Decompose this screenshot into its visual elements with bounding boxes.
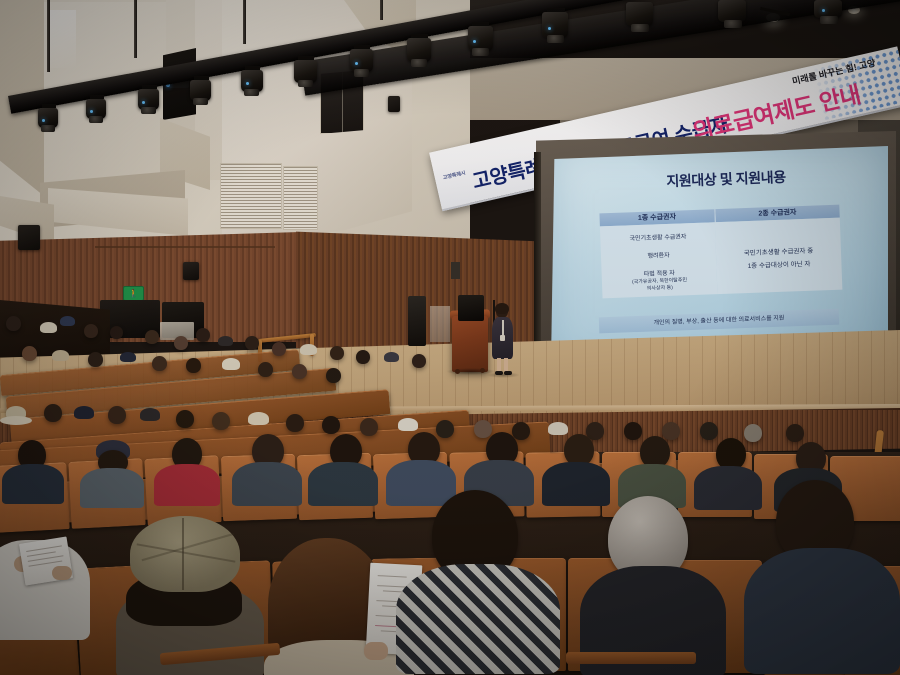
- audience-head: [212, 412, 230, 430]
- spotlight-led-icon: [42, 119, 45, 122]
- audience-head: [44, 404, 62, 422]
- audience-head: [360, 418, 378, 436]
- audience-hat: [222, 358, 240, 370]
- audience-head: [110, 326, 123, 339]
- audience-head: [84, 324, 98, 338]
- audience-head: [245, 336, 259, 350]
- audience-head: [174, 336, 188, 350]
- audience-head: [22, 346, 37, 361]
- audience-head: [152, 356, 167, 371]
- slide-cell-line: 1종 수급대상이 아닌 자: [716, 257, 841, 272]
- spotlight-led-icon: [246, 82, 249, 85]
- slide-table-body-row: 국민기초생활 수급권자 행려환자 타법 적용 자 (국가유공자, 북한이탈주민 …: [600, 218, 842, 299]
- seat-armrest: [566, 652, 696, 664]
- audience-cap: [74, 406, 94, 419]
- slide-table: 1종 수급권자 2종 수급권자 국민기초생활 수급권자 행려환자 타법 적용 자…: [599, 205, 842, 304]
- slide-title: 지원대상 및 지원내용: [611, 165, 842, 193]
- audience-cap: [398, 418, 418, 431]
- hat-seam: [182, 518, 184, 590]
- audience-head: [176, 410, 194, 428]
- truss-drop-rod: [380, 0, 383, 20]
- audience-shoulders: [2, 464, 64, 504]
- audience-member-checkered: [396, 490, 566, 675]
- audience-hat: [248, 412, 269, 425]
- audience-hat: [300, 344, 317, 355]
- spotlight-led-icon: [822, 9, 825, 12]
- audience-hat: [52, 350, 69, 361]
- wall-panel-small: [451, 262, 460, 279]
- audience-cap: [120, 352, 136, 362]
- audience-cap: [548, 422, 568, 435]
- slide-table-cell-col1: 국민기초생활 수급권자 행려환자 타법 적용 자 (국가유공자, 북한이탈주민 …: [600, 222, 718, 298]
- exit-running-man-icon: 🚶: [129, 290, 139, 298]
- audience-hat: [40, 322, 57, 333]
- audience-head: [108, 406, 126, 424]
- spotlight-led-icon: [142, 101, 145, 104]
- wall-speaker: [18, 225, 40, 250]
- spotlight-led-icon: [355, 62, 358, 65]
- spotlight-led-icon: [90, 110, 93, 113]
- spotlight-led-icon: [473, 40, 476, 43]
- audience-head: [356, 350, 370, 364]
- audience-cap: [140, 408, 160, 421]
- audience-hand: [52, 566, 72, 580]
- audience-head: [512, 422, 530, 440]
- audience-head: [624, 422, 642, 440]
- audience-cap: [218, 336, 233, 346]
- slide-cell-line: 행려환자: [601, 248, 716, 261]
- audience-head: [88, 352, 103, 367]
- audience-cap: [60, 316, 75, 326]
- audience-member-right: [744, 480, 900, 675]
- ventilation-grille: [283, 166, 318, 230]
- audience-head: [186, 358, 201, 373]
- audience-hat-brim: [0, 416, 32, 425]
- truss-drop-rod: [134, 0, 137, 58]
- audience-head: [700, 422, 718, 440]
- audience-head: [326, 368, 341, 383]
- audience-head: [662, 422, 680, 440]
- audience-head: [292, 364, 307, 379]
- audience-shoulders: [744, 548, 900, 674]
- audience-hand: [364, 642, 388, 660]
- audience-head: [145, 330, 159, 344]
- audience-shoulders: [396, 564, 560, 674]
- slide-table-cell-col2: 국민기초생활 수급권자 중 1종 수급대상이 아닌 자: [715, 218, 842, 295]
- truss-drop-rod: [243, 0, 246, 44]
- audience-head: [258, 362, 273, 377]
- audience-head: [196, 328, 210, 342]
- audience-head: [474, 420, 492, 438]
- wall-speaker: [183, 262, 199, 280]
- audience-head: [436, 420, 454, 438]
- ventilation-grille: [220, 163, 282, 229]
- audience-head: [272, 342, 286, 356]
- slide-cell-line: 국민기초생활 수급권자 중: [716, 244, 841, 259]
- audience-head: [6, 316, 21, 331]
- auditorium-photo: 🚶: [0, 0, 900, 675]
- audience-cap: [384, 352, 399, 362]
- audience-head: [322, 416, 340, 434]
- audience-head: [330, 346, 344, 360]
- audience-head: [286, 414, 304, 432]
- exit-sign: 🚶: [123, 286, 144, 301]
- audience-shoulders: [308, 462, 378, 506]
- audience-head: [412, 354, 426, 368]
- truss-drop-rod: [47, 0, 50, 72]
- audience-member-grey: [580, 496, 730, 675]
- spotlight-led-icon: [548, 27, 551, 30]
- conduit-line: [95, 246, 275, 248]
- slide-cell-line: 국민기초생활 수급권자: [600, 230, 715, 243]
